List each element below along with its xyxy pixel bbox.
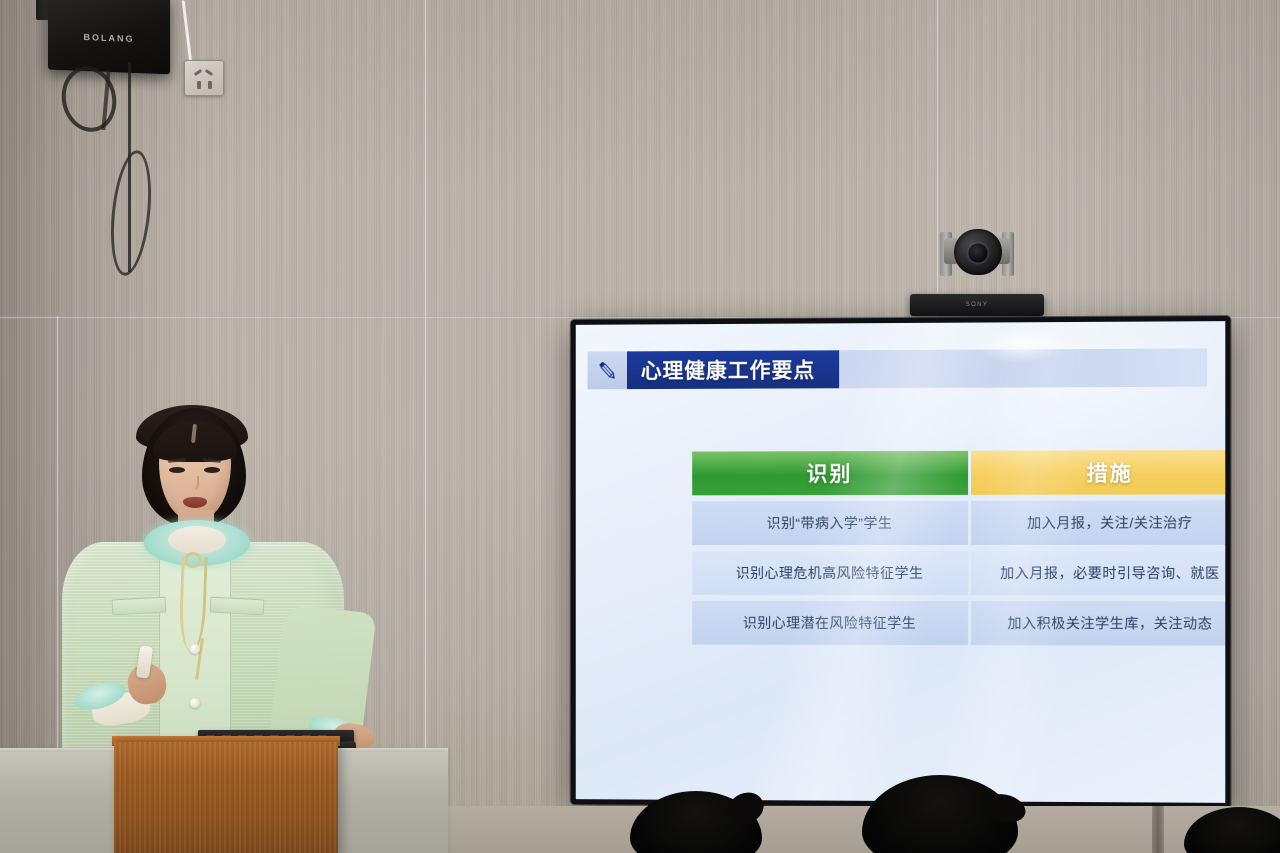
- wall-display[interactable]: 心理健康工作要点 识别 措施 识别“带病入学”学生 加入月报，关注/关注治疗: [571, 316, 1231, 808]
- eye-left: [169, 467, 185, 473]
- camera-brand-label: SONY: [966, 302, 989, 308]
- podium-wood-texture: [114, 742, 338, 853]
- nose: [190, 476, 199, 490]
- display-bezel: [571, 316, 1231, 808]
- conference-room-scene: BOLANG SONY: [0, 0, 1280, 853]
- presenter: [40, 402, 370, 772]
- inner-top: [168, 526, 226, 554]
- outlet-slot-icon: [205, 69, 213, 76]
- jacket-button: [190, 698, 200, 708]
- camera-mount-bar: SONY: [910, 294, 1044, 316]
- ceiling-speaker: BOLANG: [48, 0, 170, 74]
- podium: [114, 742, 338, 853]
- ptz-conference-camera: [938, 228, 1016, 278]
- hanging-cable: [128, 62, 131, 272]
- jacket-pocket-left: [112, 597, 167, 616]
- outlet-slot-icon: [197, 81, 201, 89]
- outlet-slot-icon: [194, 69, 202, 76]
- wall-power-outlet: [184, 60, 224, 96]
- lower-wall-seam-2: [1152, 806, 1164, 853]
- eye-right: [204, 467, 220, 473]
- jacket-button: [190, 644, 200, 654]
- camera-lens-icon: [969, 243, 988, 262]
- camera-head: [954, 229, 1002, 275]
- outlet-slot-icon: [208, 81, 212, 89]
- speaker-brand-label: BOLANG: [84, 32, 135, 44]
- wall-seam-vertical-1: [424, 0, 427, 806]
- jacket-pocket-right: [210, 597, 265, 616]
